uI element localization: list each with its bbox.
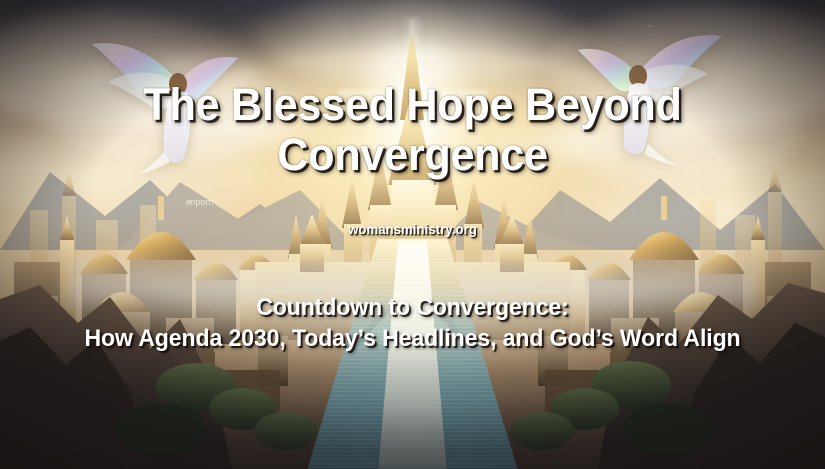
text-overlay: The Blessed Hope Beyond Convergence woma… <box>0 0 825 469</box>
title-line-1: The Blessed Hope Beyond <box>17 80 809 130</box>
subtitle-line-1: Countdown to Convergence: <box>17 292 809 323</box>
title-line-2: Convergence <box>17 130 809 180</box>
banner-title: The Blessed Hope Beyond Convergence <box>17 80 809 180</box>
subtitle-line-2: How Agenda 2030, Today’s Headlines, and … <box>17 323 809 354</box>
banner-subtitle: Countdown to Convergence: How Agenda 203… <box>17 292 809 354</box>
site-url[interactable]: womansministry.org <box>12 222 812 237</box>
promo-banner: import; ~ ~ ~ The Blessed Hope Beyond Co… <box>0 0 825 469</box>
